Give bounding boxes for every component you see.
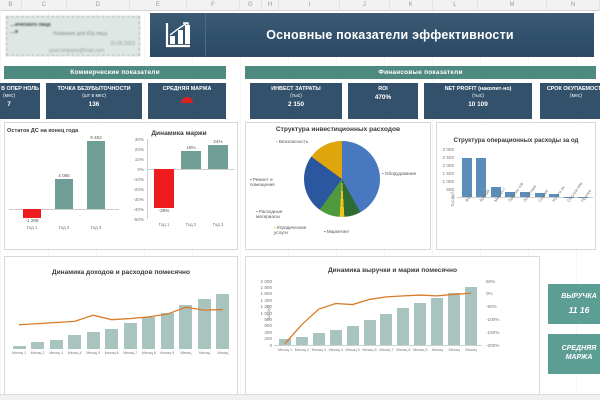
- kpi-unit: (шт в мес): [82, 93, 106, 100]
- bar-value-label: -1 288: [17, 218, 47, 223]
- kpi-title: ТОЧКА БЕЗУБЫТОЧНОСТИ: [57, 86, 130, 93]
- section-title-commercial: Коммерческие показатели: [4, 66, 226, 79]
- column-header-B[interactable]: B: [0, 0, 22, 11]
- y-tick-left: 200: [253, 336, 272, 341]
- y-tick: 0%: [127, 167, 144, 172]
- column-header-row[interactable]: BCDEFGHIJKLMN: [0, 0, 600, 11]
- kpi-title: NET PROFIT (накопит-но): [445, 86, 512, 93]
- axis-label-opex-y: Тыс.руб: [450, 192, 455, 207]
- kpi-title: ИНВЕСТ ЗАТРАТЫ: [271, 86, 320, 93]
- x-tick-5: Сервис: [537, 188, 549, 203]
- y-tick: -50%: [127, 217, 144, 222]
- summary-tile-revenue-title: ВЫРУЧКА: [561, 292, 597, 301]
- kpi-value: 136: [89, 101, 100, 109]
- chart-plot-margin: 30%20%10%0%-10%-20%-30%-40%-50%-39%Год 1…: [127, 139, 235, 243]
- kpi-title: ROI: [378, 86, 388, 93]
- chart-title-opex: Структура операционных расходы за од: [437, 123, 595, 144]
- chart-panel-cash-and-margin: Остаток ДС на конец года Динамика маржи …: [4, 122, 238, 250]
- column-header-I[interactable]: I: [279, 0, 340, 11]
- summary-tile-revenue-value: 11 16: [569, 304, 590, 316]
- chart-panel-opex: Структура операционных расходы за од 3 0…: [436, 122, 596, 250]
- kpi-value: 2 150: [288, 101, 304, 109]
- x-tick-Год 2: Год 2: [49, 225, 79, 230]
- y-tick: 2 000: [438, 163, 454, 168]
- chart-plot-income: Месяц 1Месяц 2Месяц 3Месяц 4Месяц 5Месяц…: [7, 287, 235, 369]
- bar-Год 1: [23, 209, 41, 218]
- bar-Год 3: [87, 141, 105, 209]
- column-header-K[interactable]: K: [390, 0, 433, 11]
- kpi-value: 470%: [375, 94, 391, 102]
- chart-title-investment-pie: Структура инвестиционных расходов: [246, 123, 430, 133]
- bar-value-label: 18%: [176, 145, 206, 150]
- info-line-1: …ического лица: [10, 22, 51, 28]
- axis-label-revenue-y: Тыс.руб: [266, 306, 271, 321]
- column-header-G[interactable]: G: [240, 0, 262, 11]
- column-header-J[interactable]: J: [340, 0, 389, 11]
- dashboard-header-banner: Основные показатели эффективности: [150, 13, 594, 57]
- kpi-title: ВЫХОД В ОПЕР НОЛЬ: [0, 86, 39, 93]
- column-header-F[interactable]: F: [187, 0, 240, 11]
- y-tick: -20%: [127, 187, 144, 192]
- bar-Год 3: [208, 145, 228, 169]
- kpi-value: 7: [7, 101, 11, 109]
- line-series-margin: [274, 281, 482, 345]
- y-tick: -40%: [127, 207, 144, 212]
- column-header-H[interactable]: H: [262, 0, 280, 11]
- section-title-financial: Финансовые показатели: [245, 66, 596, 79]
- column-header-D[interactable]: D: [67, 0, 130, 11]
- y-tick: 1 500: [438, 171, 454, 176]
- kpi-unit: (тыс): [290, 93, 302, 100]
- chart-panel-investment-pie: Структура инвестиционных расходов ▪ Обор…: [245, 122, 431, 250]
- line-series-expenses: [7, 287, 235, 349]
- y-tick: 10%: [127, 157, 144, 162]
- y-tick-right: -100%: [486, 317, 506, 322]
- y-tick-left: 400: [253, 330, 272, 335]
- info-line-2: …в: [10, 29, 18, 35]
- chart-plot-revenue: 2 0001 8001 6001 4001 2001 0008006004002…: [274, 281, 506, 365]
- chart-plot-pie: ▪ Оборудование▪ Маркетинг▪ Юридические у…: [246, 133, 432, 249]
- bar-0: [462, 158, 472, 197]
- summary-tile-margin-title: СРЕДНЯЯ МАРЖА: [548, 344, 600, 362]
- bar-value-label: -39%: [149, 208, 179, 213]
- kpi-tile-payback[interactable]: СРОК ОКУПАЕМОСТИ (мес): [540, 83, 600, 119]
- x-tick-Год 3: Год 3: [81, 225, 111, 230]
- column-header-E[interactable]: E: [130, 0, 187, 11]
- summary-tile-revenue[interactable]: ВЫРУЧКА 11 16: [548, 284, 600, 324]
- kpi-unit: (мес): [570, 93, 582, 100]
- kpi-tile-roi[interactable]: ROI 470%: [348, 83, 418, 119]
- bar-value-label: 4 085: [49, 173, 79, 178]
- pie-label-3: ▪ Расходные материалы: [256, 209, 302, 219]
- kpi-tile-oper-zero[interactable]: ВЫХОД В ОПЕР НОЛЬ (мес) 7: [0, 83, 40, 119]
- y-tick-left: 1 800: [253, 285, 272, 290]
- pie-label-1: ▪ Маркетинг: [324, 229, 349, 234]
- chart-plot-cash: -1 288Год 14 085Год 29 452Год 3: [9, 137, 119, 241]
- x-tick-8: Прочее: [580, 188, 592, 203]
- chart-plot-opex: 3 0002 5002 0001 5001 0005000ФОТАрендаМа…: [457, 149, 593, 211]
- kpi-unit: (тыс): [472, 93, 484, 100]
- y-tick-right: 0%: [486, 291, 506, 296]
- y-tick-right: -200%: [486, 343, 506, 348]
- pie-label-5: ▪ Безопасность: [276, 139, 308, 144]
- info-email: yourcompany@mail.com: [49, 48, 104, 54]
- y-tick: 30%: [127, 137, 144, 142]
- column-header-M[interactable]: M: [478, 0, 547, 11]
- summary-tile-margin[interactable]: СРЕДНЯЯ МАРЖА: [548, 334, 600, 374]
- y-tick-left: 0: [253, 343, 272, 348]
- kpi-value: 10 109: [468, 101, 488, 109]
- kpi-tile-breakeven[interactable]: ТОЧКА БЕЗУБЫТОЧНОСТИ (шт в мес) 136: [46, 83, 142, 119]
- y-tick-left: 600: [253, 323, 272, 328]
- y-tick-right: -50%: [486, 304, 506, 309]
- kpi-title: СРЕДНЯЯ МАРЖА: [163, 86, 212, 93]
- pie-chart: [304, 141, 380, 217]
- y-tick: 20%: [127, 147, 144, 152]
- x-axis-line: [274, 345, 482, 346]
- y-tick-left: 2 000: [253, 279, 272, 284]
- kpi-tile-net-profit[interactable]: NET PROFIT (накопит-но) (тыс) 10 109: [424, 83, 532, 119]
- bar-value-label: 9 452: [81, 135, 111, 140]
- kpi-tile-avg-margin[interactable]: СРЕДНЯЯ МАРЖА: [148, 83, 226, 119]
- bar-Год 2: [181, 151, 201, 169]
- kpi-title: СРОК ОКУПАЕМОСТИ: [547, 86, 600, 93]
- y-tick: 2 500: [438, 155, 454, 160]
- y-tick-right: -150%: [486, 330, 506, 335]
- kpi-unit: (мес): [3, 93, 15, 100]
- column-header-L[interactable]: L: [433, 0, 478, 11]
- y-tick: 3 000: [438, 147, 454, 152]
- chart-title-cash: Остаток ДС на конец года: [7, 125, 119, 134]
- status-bar: [0, 394, 600, 400]
- company-info-box[interactable]: …ического лица …в Название для Юр.лица 1…: [6, 16, 140, 56]
- y-tick: 1 000: [438, 179, 454, 184]
- x-tick-Год 3: Год 3: [202, 222, 234, 227]
- info-company-name: Название для Юр.лица: [53, 31, 107, 37]
- chart-title-revenue: Динамика выручки и маржи помесячно: [246, 257, 539, 274]
- bar-Год 2: [55, 179, 73, 208]
- info-date: 15.06.2023: [110, 41, 135, 47]
- chart-title-income: Динамика доходов и расходов помесячно: [5, 257, 237, 276]
- pie-label-0: ▪ Оборудование: [382, 171, 416, 176]
- bar-Год 1: [154, 169, 174, 208]
- y-axis-line: [147, 139, 148, 219]
- column-header-N[interactable]: N: [547, 0, 600, 11]
- chart-panel-revenue-margin: Динамика выручки и маржи помесячно 2 000…: [245, 256, 540, 396]
- spreadsheet-dashboard: BCDEFGHIJKLMN …ического лица …в Название…: [0, 0, 600, 400]
- y-tick-right: 50%: [486, 279, 506, 284]
- bar-chart-growth-icon: [150, 13, 206, 57]
- x-tick-Год 1: Год 1: [17, 225, 47, 230]
- x-tick-11: Месяц: [461, 348, 481, 352]
- column-header-C[interactable]: C: [22, 0, 67, 11]
- pie-label-2: ▪ Юридические услуги: [274, 225, 320, 235]
- y-tick: -30%: [127, 197, 144, 202]
- y-tick: -10%: [127, 177, 144, 182]
- page-title: Основные показатели эффективности: [206, 28, 594, 42]
- bar-value-label: 24%: [203, 139, 233, 144]
- chart-panel-income-expense: Динамика доходов и расходов помесячно Ме…: [4, 256, 238, 396]
- y-tick-left: 1 600: [253, 291, 272, 296]
- kpi-tile-invest[interactable]: ИНВЕСТ ЗАТРАТЫ (тыс) 2 150: [250, 83, 342, 119]
- pie-label-4: ▪ Ремонт и помещения: [250, 177, 296, 187]
- y-tick-left: 1 400: [253, 298, 272, 303]
- x-tick-11: Месяц: [212, 351, 233, 355]
- chart-title-margin: Динамика маржи: [123, 127, 235, 137]
- gauge-icon: [181, 97, 193, 103]
